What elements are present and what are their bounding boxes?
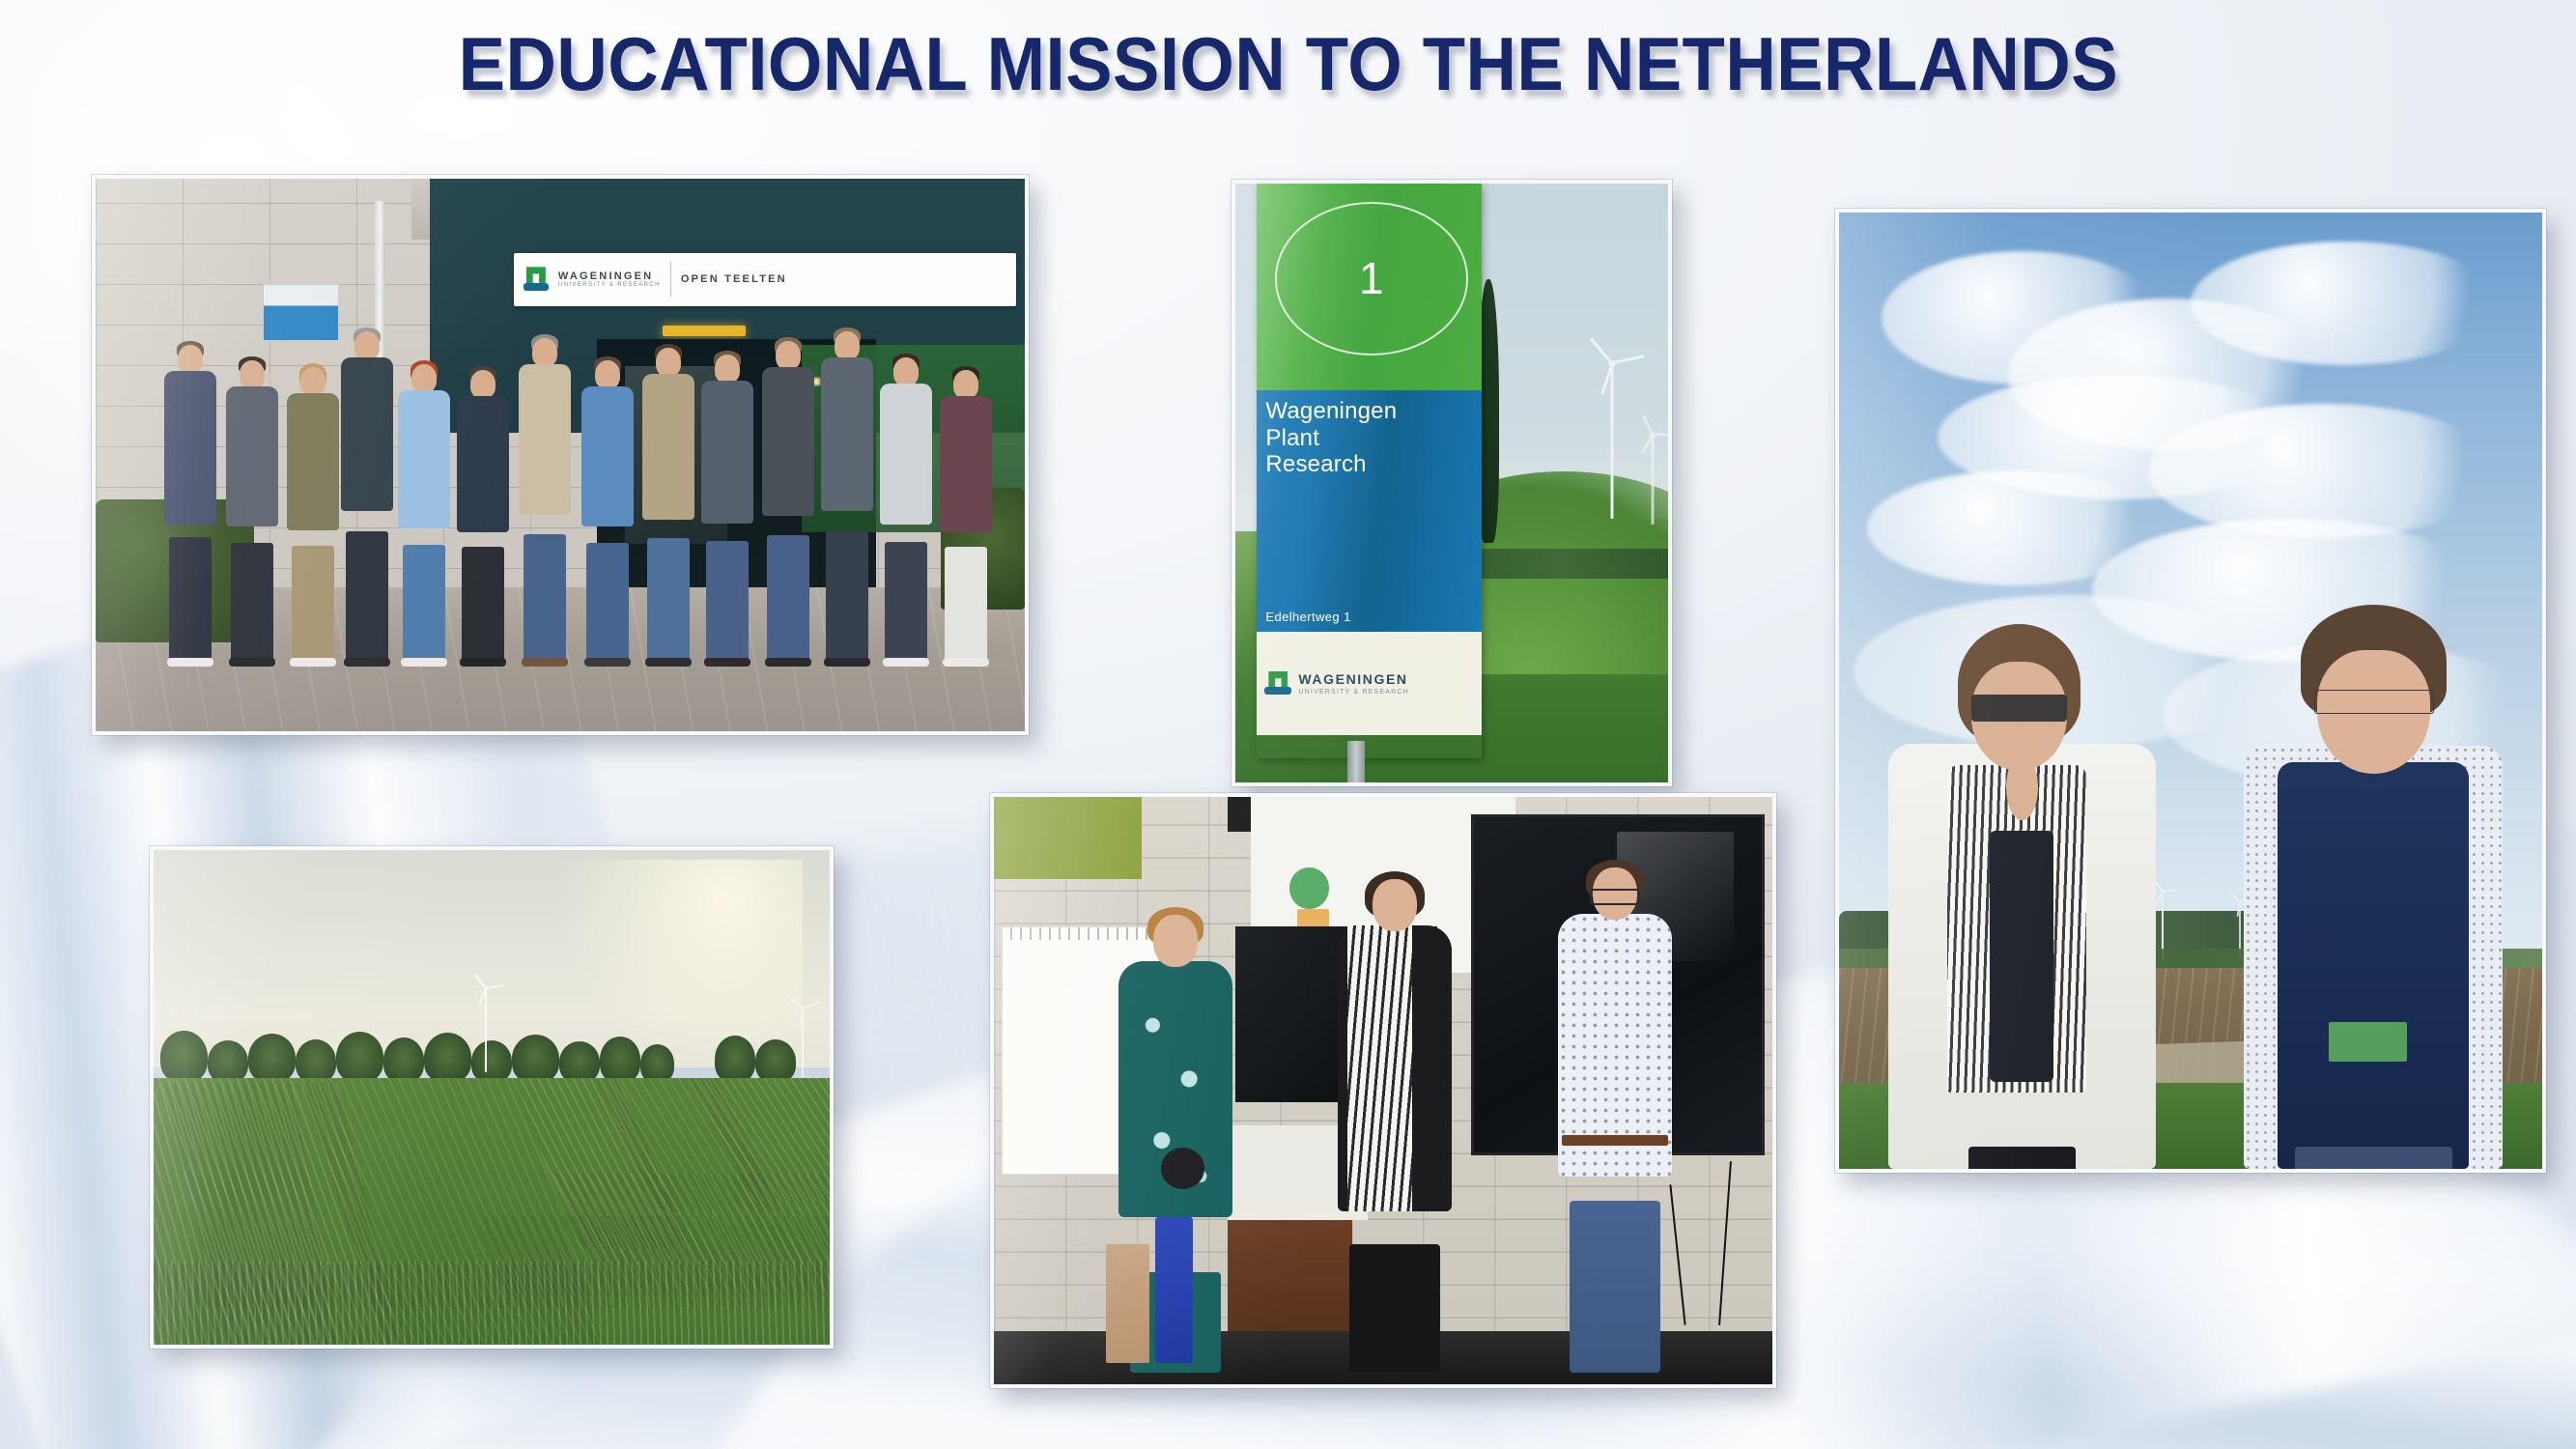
person xyxy=(579,360,637,665)
jeans xyxy=(1570,1201,1660,1373)
entrance-light xyxy=(663,326,747,336)
person-centre xyxy=(1321,879,1468,1373)
navy-bodywarmer xyxy=(2278,762,2469,1169)
sign-post-leg xyxy=(1347,741,1365,782)
tree xyxy=(512,1035,559,1083)
black-trousers xyxy=(1349,1244,1440,1373)
person xyxy=(284,367,342,666)
striped-jacket xyxy=(1347,925,1412,1211)
slide-title: EDUCATIONAL MISSION TO THE NETHERLANDS xyxy=(458,25,2117,103)
face xyxy=(1373,879,1417,931)
photo-group-photo-at-wur-open-teelten-entrance[interactable]: WAGENINGEN UNIVERSITY & RESEARCH OPEN TE… xyxy=(92,175,1029,735)
eyeglasses-icon xyxy=(1590,889,1640,905)
tree xyxy=(600,1037,640,1082)
tree xyxy=(383,1037,424,1082)
dark-top xyxy=(1990,831,2053,1082)
sign-logo-panel: WAGENINGEN UNIVERSITY & RESEARCH xyxy=(1257,632,1482,735)
wind-turbine xyxy=(478,988,494,1072)
foreground-grass xyxy=(154,1261,830,1345)
person-man xyxy=(2233,605,2514,1169)
jeans xyxy=(2295,1147,2452,1169)
hand xyxy=(2006,754,2038,820)
sign-brand-sub: UNIVERSITY & RESEARCH xyxy=(1298,689,1409,696)
person xyxy=(818,331,876,665)
slide-title-container: EDUCATIONAL MISSION TO THE NETHERLANDS xyxy=(0,25,2576,103)
photo-wageningen-plant-research-entrance-sign[interactable]: 1 Wageningen Plant Research Edelhertweg … xyxy=(1231,180,1672,786)
person xyxy=(758,341,818,665)
blue-gift-bag xyxy=(1155,1217,1193,1364)
face xyxy=(1153,915,1198,967)
person xyxy=(878,357,934,665)
tree xyxy=(160,1031,208,1083)
sign-site-name-line-2: Plant xyxy=(1265,425,1473,451)
wur-entrance-sign: WAGENINGEN UNIVERSITY & RESEARCH OPEN TE… xyxy=(514,253,1016,305)
tree xyxy=(755,1039,796,1083)
presentation-slide: EDUCATIONAL MISSION TO THE NETHERLANDS W… xyxy=(0,0,2576,1449)
wind-turbine xyxy=(1647,435,1658,525)
sign-blue-panel: Wageningen Plant Research Edelhertweg 1 xyxy=(1257,390,1482,632)
eyeglasses-icon xyxy=(2314,690,2434,714)
logo-badge xyxy=(2329,1022,2408,1062)
scene-field-plots xyxy=(154,850,830,1345)
sign-brand-name: WAGENINGEN xyxy=(1298,671,1407,687)
sunglasses-icon xyxy=(1971,695,2068,722)
sign-number-circle: 1 xyxy=(1275,202,1468,355)
person xyxy=(938,370,994,665)
person xyxy=(638,348,698,665)
tree xyxy=(248,1034,296,1083)
tree xyxy=(296,1039,336,1083)
person xyxy=(339,331,395,665)
wind-turbine xyxy=(796,1009,809,1078)
photo-experimental-field-trial-plots[interactable]: Experimental crop trial plots with green… xyxy=(150,846,834,1349)
wageningen-logo-icon xyxy=(1264,671,1291,696)
leather-belt xyxy=(1562,1135,1668,1146)
person xyxy=(698,355,756,666)
paper-gift-bag xyxy=(1106,1244,1149,1363)
scene-roadside-sign: 1 Wageningen Plant Research Edelhertweg … xyxy=(1235,184,1668,782)
wur-sign-brand: WAGENINGEN UNIVERSITY & RESEARCH xyxy=(558,270,661,290)
wageningen-logo-icon xyxy=(524,267,549,292)
person-woman xyxy=(1888,624,2156,1169)
person xyxy=(224,360,280,665)
wur-sign-location-text: OPEN TEELTEN xyxy=(681,273,787,286)
green-wall-panel xyxy=(994,797,1142,879)
sign-brand-block: WAGENINGEN UNIVERSITY & RESEARCH xyxy=(1298,671,1409,696)
person-right xyxy=(1539,867,1691,1373)
wind-turbine xyxy=(1603,363,1621,519)
cloud xyxy=(2191,241,2500,366)
trousers xyxy=(1968,1147,2076,1169)
person xyxy=(395,364,453,666)
sign-address: Edelhertweg 1 xyxy=(1265,610,1350,624)
person xyxy=(160,345,220,666)
photo-two-people-talking-in-field[interactable]: A woman in sunglasses and a white coat t… xyxy=(1835,209,2546,1173)
tree xyxy=(559,1041,600,1083)
gift-plate xyxy=(1161,1148,1204,1189)
sign-number: 1 xyxy=(1359,256,1384,300)
sign-top-green-panel: 1 xyxy=(1257,184,1482,390)
person xyxy=(455,370,511,665)
photo-three-people-in-meeting-room[interactable]: Three people posing in a meeting room wi… xyxy=(990,793,1776,1388)
sign-divider xyxy=(670,262,671,297)
tree xyxy=(715,1036,755,1082)
sign-site-name-line-1: Wageningen xyxy=(1265,398,1473,424)
tree xyxy=(336,1032,383,1083)
totem-sign: 1 Wageningen Plant Research Edelhertweg … xyxy=(1257,184,1482,758)
scene-meeting-room xyxy=(994,797,1772,1384)
scene-entrance: WAGENINGEN UNIVERSITY & RESEARCH OPEN TE… xyxy=(96,179,1025,731)
wur-sign-brand-subtext: UNIVERSITY & RESEARCH xyxy=(558,282,661,289)
tree xyxy=(208,1040,248,1083)
wall-notice-board xyxy=(263,284,339,341)
wur-sign-brand-text: WAGENINGEN xyxy=(558,270,653,282)
delegate-group xyxy=(152,345,1006,666)
tree xyxy=(424,1033,471,1083)
sign-site-name-line-3: Research xyxy=(1265,451,1473,477)
scene-field-conversation xyxy=(1839,213,2542,1169)
person xyxy=(515,338,575,665)
cloud xyxy=(2148,404,2500,538)
person-left xyxy=(1103,915,1248,1373)
